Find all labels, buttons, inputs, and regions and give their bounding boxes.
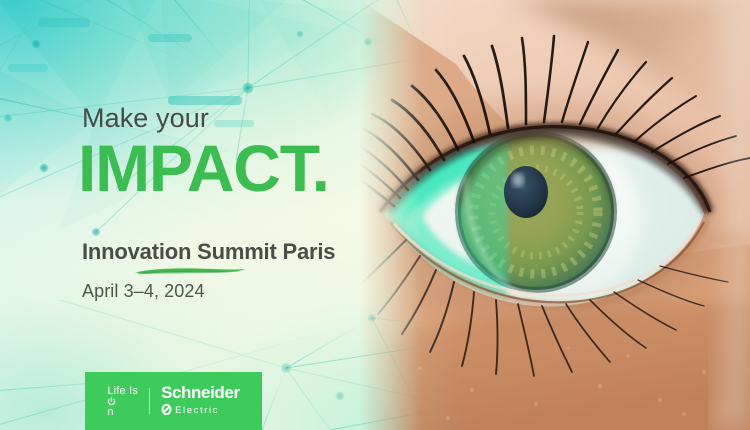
schneider-slashed-o-icon — [161, 403, 172, 419]
electric-name: Electric — [175, 406, 219, 416]
brush-underline-icon — [134, 266, 252, 275]
event-dates: April 3–4, 2024 — [82, 281, 335, 302]
eye-photo — [360, 0, 750, 430]
life-is-on-tagline: Life Is n — [107, 385, 149, 418]
schneider-wordmark: Schneider Electric — [150, 384, 240, 419]
headline-block: Make your IMPACT. Innovation Summit Pari… — [82, 104, 335, 302]
schneider-name: Schneider — [161, 384, 240, 401]
headline-impact: IMPACT. — [78, 136, 335, 201]
headline-kicker: Make your — [82, 104, 335, 132]
life-is-on-text: Life Is n — [107, 385, 138, 418]
event-name: Innovation Summit Paris — [82, 239, 335, 265]
electric-row: Electric — [161, 403, 219, 419]
event-name-block: Innovation Summit Paris — [82, 239, 335, 265]
schneider-electric-event-banner: Make your IMPACT. Innovation Summit Pari… — [0, 0, 750, 430]
power-symbol-icon — [107, 397, 116, 406]
schneider-electric-logo: Life Is n Schneider Electric — [85, 372, 262, 430]
